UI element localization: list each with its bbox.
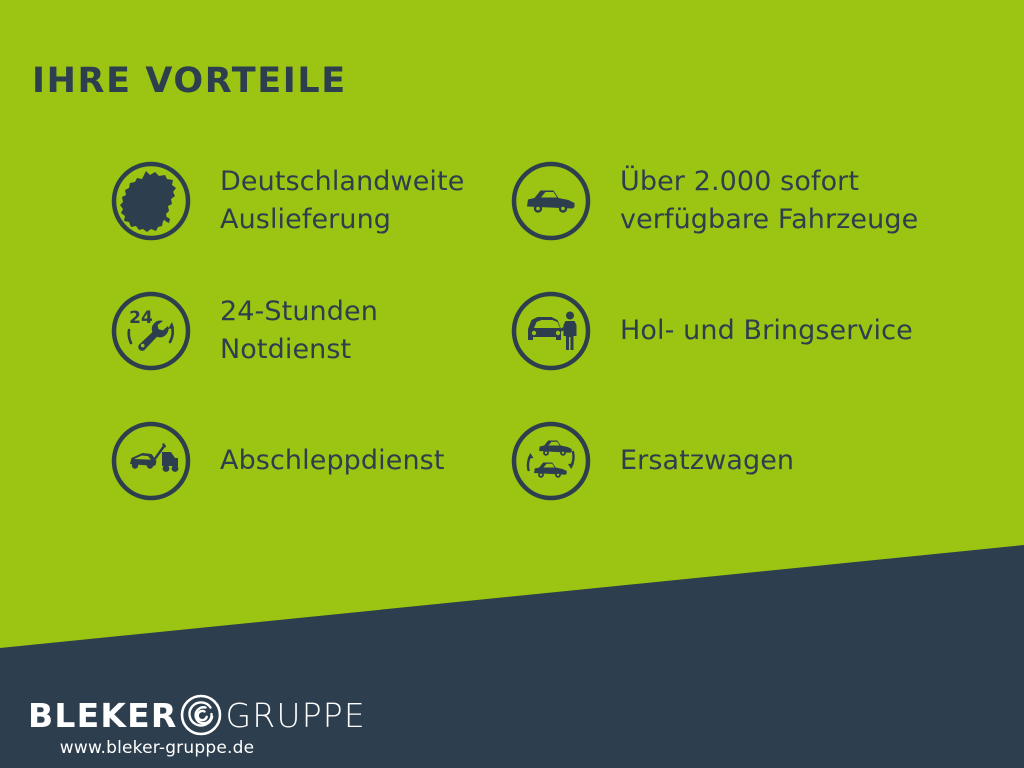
benefit-label: Ersatzwagen (620, 420, 1024, 502)
benefit-item-ersatzwagen: Ersatzwagen (510, 410, 980, 540)
logo-row: BLEKER GRUPPE (28, 694, 448, 736)
benefit-item-hol-und-bringservice: Hol- und Bringservice (510, 280, 980, 410)
spiral-circle-logo-icon (178, 692, 224, 738)
footer-logo[interactable]: BLEKER GRUPPE www.bleker-gruppe.de (28, 694, 448, 756)
car-with-person-icon (510, 290, 592, 372)
benefits-right-column: Über 2.000 sofort verfügbare Fahrzeuge (510, 150, 980, 540)
germany-map-icon (110, 160, 192, 242)
benefit-label: Hol- und Bringservice (620, 290, 1024, 372)
slide: IHRE VORTEILE Deutschlandweite Ausliefer… (0, 0, 1024, 768)
tow-truck-icon (110, 420, 192, 502)
replacement-car-icon (510, 420, 592, 502)
benefit-item-verfuegbare-fahrzeuge: Über 2.000 sofort verfügbare Fahrzeuge (510, 150, 980, 280)
benefit-item-24-stunden-notdienst: 24 24-Stunden Notdienst (110, 280, 510, 410)
benefits-left-column: Deutschlandweite Auslieferung 24 (110, 150, 510, 540)
logo-secondary-text: GRUPPE (225, 699, 366, 732)
24-hour-service-icon: 24 (110, 290, 192, 372)
page-title: IHRE VORTEILE (32, 64, 347, 99)
benefit-item-deutschlandweite-auslieferung: Deutschlandweite Auslieferung (110, 150, 510, 280)
logo-primary-text: BLEKER (28, 699, 177, 732)
svg-text:24: 24 (129, 308, 153, 328)
website-url[interactable]: www.bleker-gruppe.de (28, 738, 286, 758)
car-icon (510, 160, 592, 242)
benefit-item-abschleppdienst: Abschleppdienst (110, 410, 510, 540)
benefit-label: Über 2.000 sofort verfügbare Fahrzeuge (620, 160, 1024, 242)
